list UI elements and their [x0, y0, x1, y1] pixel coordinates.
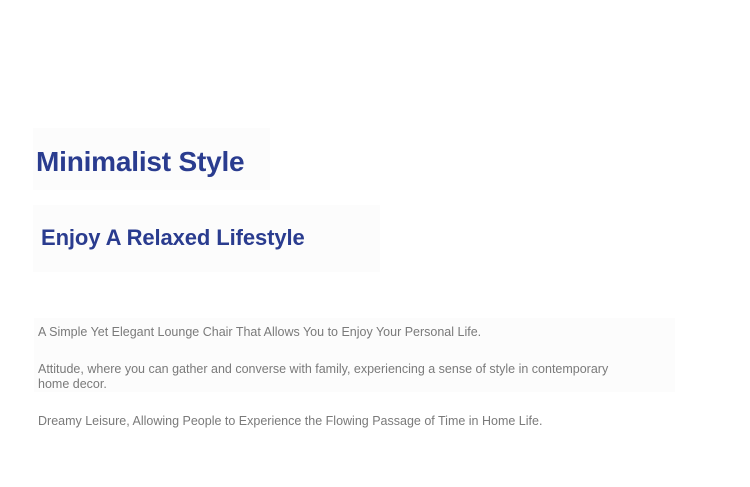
page-title: Minimalist Style	[36, 145, 244, 179]
body-paragraph: Attitude, where you can gather and conve…	[38, 362, 638, 393]
body-copy: A Simple Yet Elegant Lounge Chair That A…	[38, 325, 663, 429]
page-root: Minimalist Style Enjoy A Relaxed Lifesty…	[0, 0, 750, 487]
page-subtitle: Enjoy A Relaxed Lifestyle	[41, 224, 305, 252]
body-paragraph: A Simple Yet Elegant Lounge Chair That A…	[38, 325, 663, 341]
body-paragraph: Dreamy Leisure, Allowing People to Exper…	[38, 414, 663, 430]
